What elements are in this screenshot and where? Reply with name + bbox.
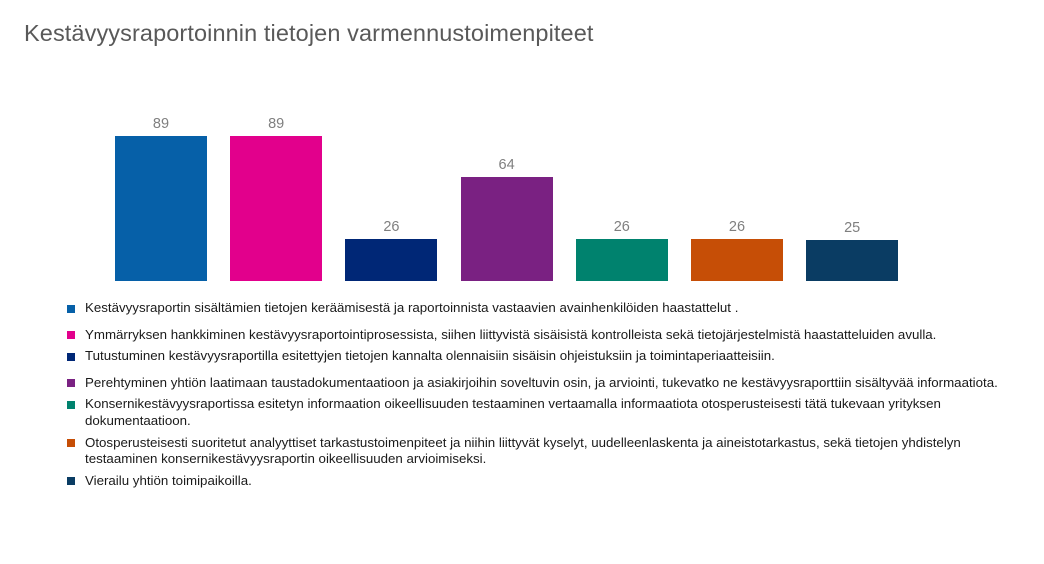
bar-value-label: 64: [461, 157, 553, 174]
legend-item-label: Ymmärryksen hankkiminen kestävyysraporto…: [85, 327, 1007, 344]
bar-column[interactable]: [230, 136, 322, 281]
bar-slot: 89: [230, 100, 322, 285]
bar-slot: 26: [345, 100, 437, 285]
legend-item-label: Kestävyysraportin sisältämien tietojen k…: [85, 300, 1007, 317]
bar-rect[interactable]: [230, 136, 322, 281]
chart-legend: Kestävyysraportin sisältämien tietojen k…: [67, 300, 1007, 489]
legend-item[interactable]: Konsernikestävyysraportissa esitetyn inf…: [67, 396, 1007, 429]
legend-swatch-icon: [67, 331, 75, 339]
bar-column[interactable]: [345, 239, 437, 281]
bar-value-label: 89: [230, 116, 322, 133]
bar-rect[interactable]: [461, 177, 553, 281]
bar-column[interactable]: [806, 240, 898, 281]
legend-item-label: Tutustuminen kestävyysraportilla esitett…: [85, 348, 1007, 365]
bar-slot: 64: [461, 100, 553, 285]
bar-column[interactable]: [576, 239, 668, 281]
bar-rect[interactable]: [806, 240, 898, 281]
legend-swatch-icon: [67, 439, 75, 447]
legend-item-label: Perehtyminen yhtiön laatimaan taustadoku…: [85, 375, 1007, 392]
legend-swatch-icon: [67, 401, 75, 409]
slide-canvas: Kestävyysraportoinnin tietojen varmennus…: [0, 0, 1044, 564]
bar-value-label: 26: [691, 219, 783, 236]
bar-chart-plot-area: 89892664262625: [0, 100, 1044, 285]
legend-swatch-icon: [67, 477, 75, 485]
legend-item[interactable]: Kestävyysraportin sisältämien tietojen k…: [67, 300, 1007, 317]
bar-slot: 26: [576, 100, 668, 285]
bar-column[interactable]: [115, 136, 207, 281]
bar-slot: 89: [115, 100, 207, 285]
legend-swatch-icon: [67, 305, 75, 313]
page-title: Kestävyysraportoinnin tietojen varmennus…: [24, 20, 984, 47]
bar-column[interactable]: [461, 177, 553, 281]
bar-slot: 25: [806, 100, 898, 285]
legend-item[interactable]: Vierailu yhtiön toimipaikoilla.: [67, 473, 1007, 490]
legend-item-label: Konsernikestävyysraportissa esitetyn inf…: [85, 396, 1007, 429]
bar-rect[interactable]: [691, 239, 783, 281]
bar-column[interactable]: [691, 239, 783, 281]
legend-item[interactable]: Otosperusteisesti suoritetut analyyttise…: [67, 435, 1007, 468]
legend-swatch-icon: [67, 353, 75, 361]
legend-item[interactable]: Tutustuminen kestävyysraportilla esitett…: [67, 348, 1007, 365]
bar-value-label: 25: [806, 220, 898, 237]
bar-value-label: 89: [115, 116, 207, 133]
bar-slot: 26: [691, 100, 783, 285]
bar-rect[interactable]: [115, 136, 207, 281]
legend-item[interactable]: Perehtyminen yhtiön laatimaan taustadoku…: [67, 375, 1007, 392]
bar-value-label: 26: [576, 219, 668, 236]
bar-rect[interactable]: [345, 239, 437, 281]
legend-item-label: Vierailu yhtiön toimipaikoilla.: [85, 473, 1007, 490]
legend-swatch-icon: [67, 379, 75, 387]
bar-value-label: 26: [345, 219, 437, 236]
legend-item[interactable]: Ymmärryksen hankkiminen kestävyysraporto…: [67, 327, 1007, 344]
legend-item-label: Otosperusteisesti suoritetut analyyttise…: [85, 435, 1007, 468]
bar-rect[interactable]: [576, 239, 668, 281]
